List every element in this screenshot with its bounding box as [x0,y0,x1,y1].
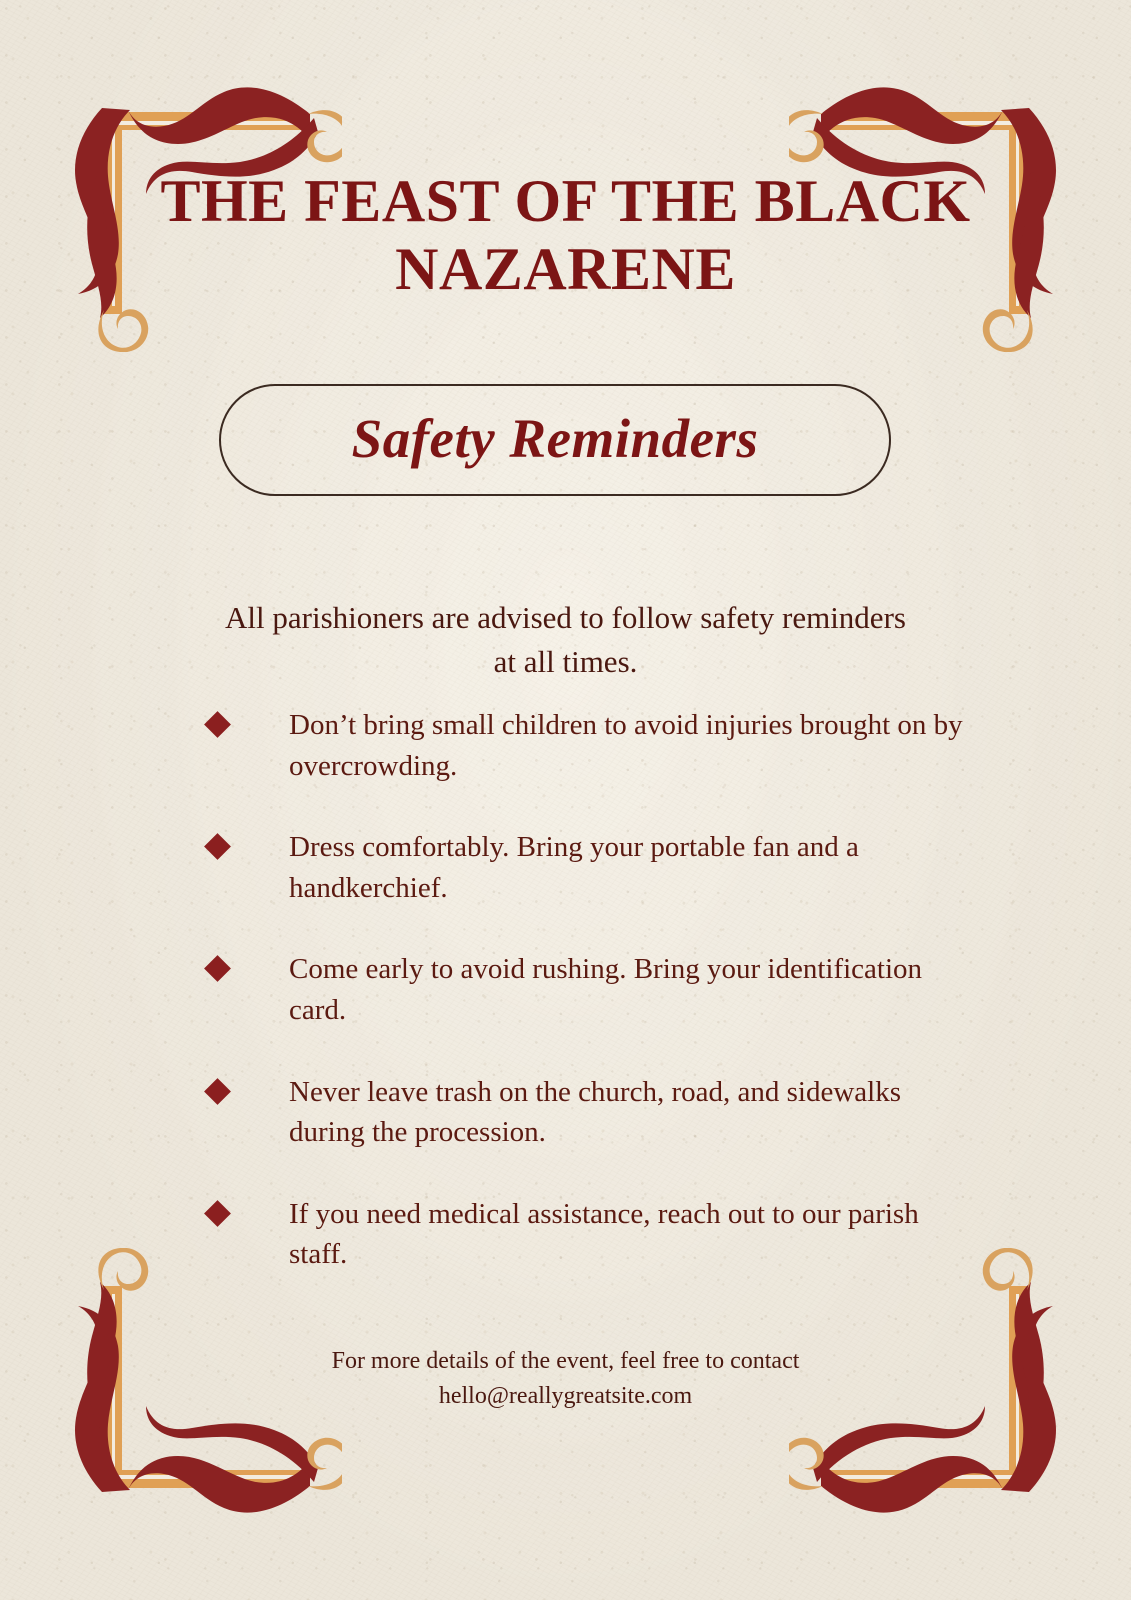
list-item: Dress comfortably. Bring your portable f… [208,827,968,908]
reminders-list: Don’t bring small children to avoid inju… [208,705,968,1316]
gold-spiral-bottom-left [98,1248,148,1291]
ribbon-red-top [128,1456,310,1513]
diamond-bullet-icon [204,711,231,738]
list-item-text: Don’t bring small children to avoid inju… [289,705,968,786]
gold-spiral-bottom-left [983,309,1033,352]
page-title: THE FEAST OF THE BLACK NAZARENE [0,168,1131,304]
poster-canvas: THE FEAST OF THE BLACK NAZARENE Safety R… [0,0,1131,1600]
list-item-text: If you need medical assistance, reach ou… [289,1194,968,1275]
diamond-bullet-icon [204,1200,231,1227]
subtitle-pill-frame: Safety Reminders [219,384,891,496]
ribbon-red-top-lower [146,1406,318,1482]
gold-spiral-bottom-left [983,1248,1033,1291]
footer-contact-email: hello@reallygreatsite.com [180,1379,951,1414]
diamond-bullet-icon [204,833,231,860]
list-item-text: Never leave trash on the church, road, a… [289,1072,968,1153]
gold-spiral-top-right [789,110,824,162]
list-item: Never leave trash on the church, road, a… [208,1072,968,1153]
intro-paragraph: All parishioners are advised to follow s… [0,596,1131,684]
list-item: Don’t bring small children to avoid inju… [208,705,968,786]
diamond-bullet-icon [204,955,231,982]
subtitle-label: Safety Reminders [352,411,759,466]
ribbon-red-top [821,87,1003,144]
gold-spiral-top-right [789,1438,824,1490]
gold-spiral-top-right [307,110,342,162]
ribbon-red-top [128,87,310,144]
gold-spiral-top-right [307,1438,342,1490]
footer-line-1: For more details of the event, feel free… [180,1344,951,1379]
list-item: Come early to avoid rushing. Bring your … [208,949,968,1030]
diamond-bullet-icon [204,1078,231,1105]
list-item: If you need medical assistance, reach ou… [208,1194,968,1275]
ribbon-red-top-lower [813,1406,985,1482]
list-item-text: Dress comfortably. Bring your portable f… [289,827,968,908]
ribbon-red-top [821,1456,1003,1513]
list-item-text: Come early to avoid rushing. Bring your … [289,949,968,1030]
footer-contact: For more details of the event, feel free… [0,1344,1131,1414]
gold-spiral-bottom-left [98,309,148,352]
